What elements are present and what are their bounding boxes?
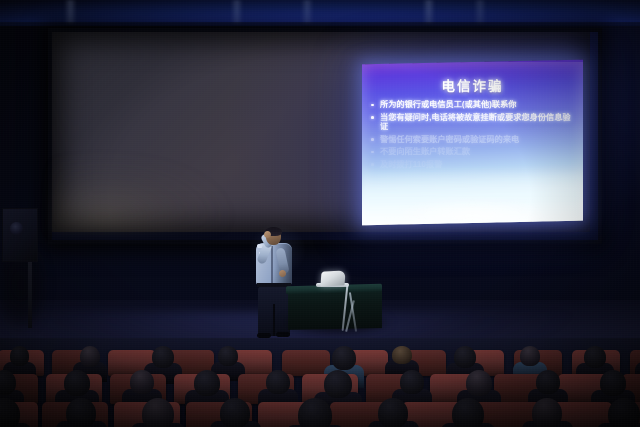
laptop-screen: [320, 270, 345, 286]
presenter-hand-lowered: [279, 270, 286, 277]
presenter-hand-raised: [264, 231, 271, 238]
loudspeaker: [2, 208, 38, 262]
projected-slide: 电信诈骗 所为的银行或电信员工(或其他)联系你 当您有疑问时,电话将被故意挂断或…: [362, 60, 583, 226]
slide-content: 电信诈骗 所为的银行或电信员工(或其他)联系你 当您有疑问时,电话将被故意挂断或…: [362, 62, 583, 223]
ceiling-light-streaks: [0, 0, 640, 24]
audience-area: [0, 338, 640, 427]
speaker-shadow: [0, 252, 52, 334]
table-skirt: [288, 290, 382, 330]
audience-vignette: [0, 338, 640, 427]
presenter-shirt-placket: [271, 246, 273, 283]
screen-warm-reflection: [52, 150, 302, 232]
presenter-leg-split: [273, 304, 275, 336]
speaker-cone-icon: [10, 222, 23, 235]
auditorium-photo: 电信诈骗 所为的银行或电信员工(或其他)联系你 当您有疑问时,电话将被故意挂断或…: [0, 0, 640, 427]
slide-defocus-bloom: [362, 62, 583, 223]
